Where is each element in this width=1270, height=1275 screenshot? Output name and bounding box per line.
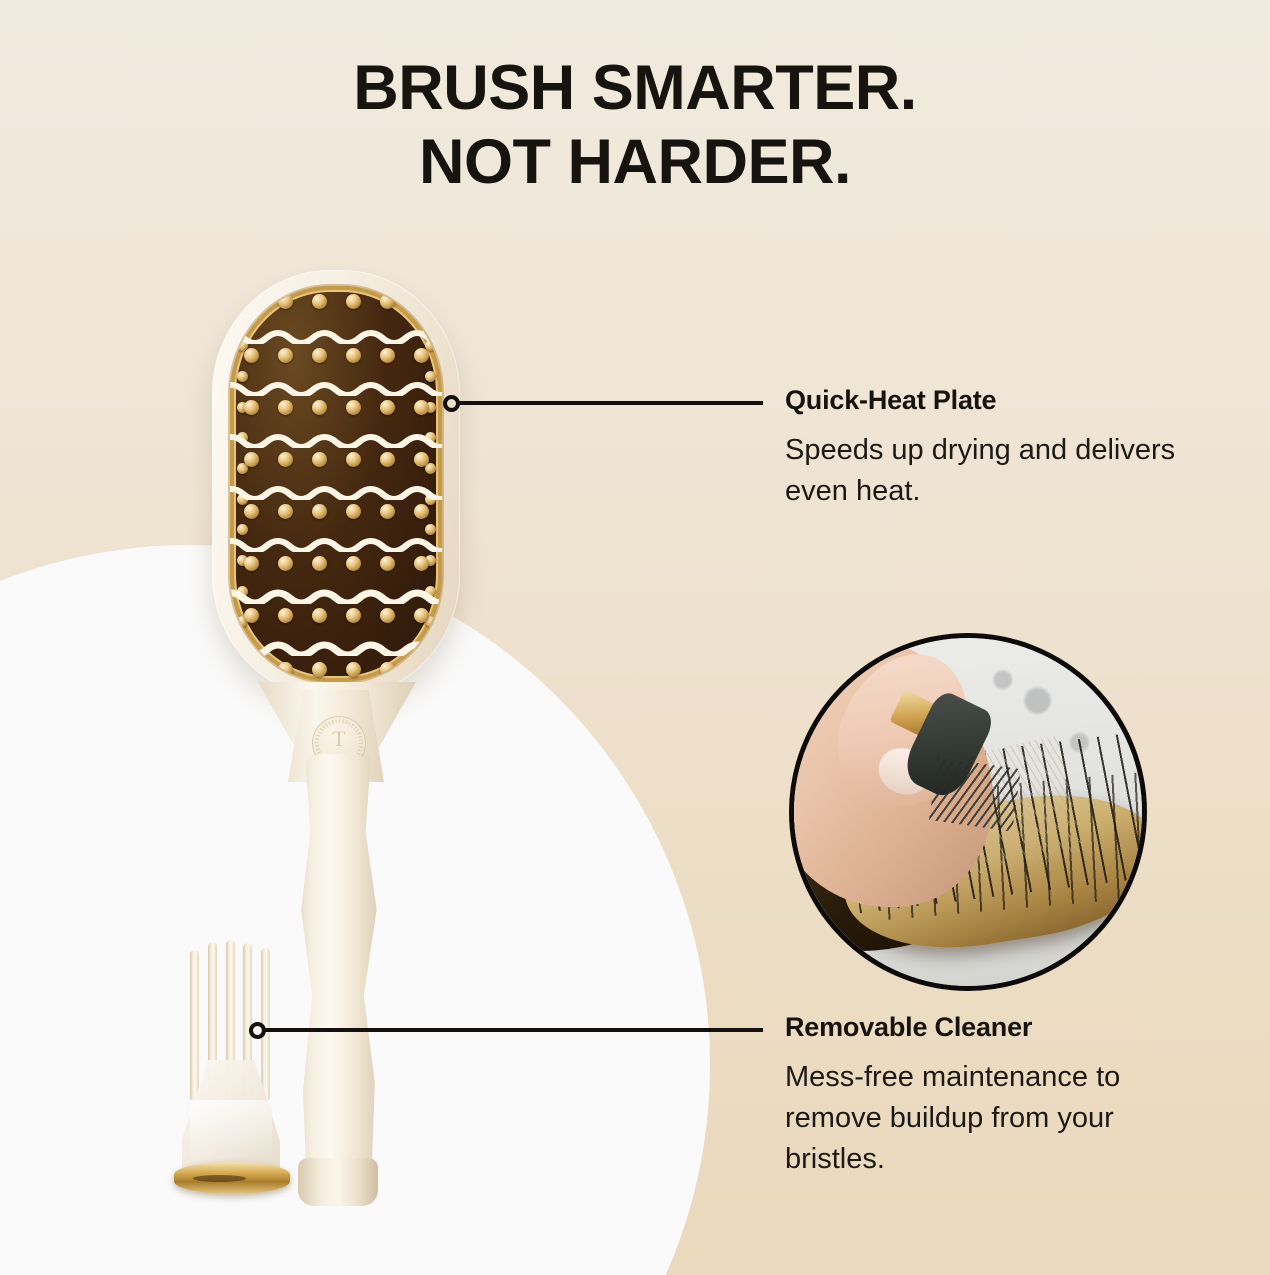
plate-wave-band bbox=[230, 378, 442, 396]
page-title: BRUSH SMARTER. NOT HARDER. bbox=[0, 52, 1270, 199]
callout-title: Quick-Heat Plate bbox=[785, 385, 1205, 416]
plate-pin-row bbox=[234, 604, 438, 626]
brush-handle bbox=[292, 754, 384, 1186]
callout-title: Removable Cleaner bbox=[785, 1012, 1205, 1043]
callout-body: Speeds up drying and delivers even heat. bbox=[785, 430, 1205, 512]
removable-cleaner-image bbox=[168, 940, 298, 1202]
callout-removable-cleaner: Removable Cleaner Mess-free maintenance … bbox=[785, 1012, 1205, 1181]
plate-pin-row bbox=[234, 290, 438, 312]
cleaner-gold-base bbox=[174, 1162, 290, 1194]
leader-line-removable-cleaner bbox=[264, 1028, 763, 1032]
headline-line-2: NOT HARDER. bbox=[0, 126, 1270, 200]
cleaner-demo-photo bbox=[789, 633, 1147, 991]
plate-wave-band bbox=[230, 482, 442, 500]
plate-wave-band bbox=[230, 326, 442, 344]
photo-tool-teeth bbox=[929, 758, 1020, 832]
callout-body: Mess-free maintenance to remove buildup … bbox=[785, 1057, 1205, 1181]
logo-monogram: T bbox=[312, 728, 366, 750]
plate-pin-row bbox=[234, 658, 438, 680]
headline-line-1: BRUSH SMARTER. bbox=[353, 53, 917, 123]
brush-head bbox=[212, 270, 460, 698]
plate-pin-row bbox=[234, 344, 438, 366]
quick-heat-plate-surface bbox=[230, 286, 442, 682]
plate-pin-row bbox=[234, 552, 438, 574]
plate-wave-band bbox=[230, 534, 442, 552]
callout-quick-heat-plate: Quick-Heat Plate Speeds up drying and de… bbox=[785, 385, 1205, 512]
leader-line-quick-heat-plate bbox=[458, 401, 763, 405]
plate-pin-row bbox=[234, 448, 438, 470]
plate-pin-row bbox=[234, 500, 438, 522]
plate-wave-band bbox=[230, 586, 442, 604]
infographic-canvas: BRUSH SMARTER. NOT HARDER. bbox=[0, 0, 1270, 1275]
plate-wave-band bbox=[230, 638, 442, 656]
brush-handle-base bbox=[298, 1158, 378, 1206]
plate-wave-band bbox=[230, 430, 442, 448]
plate-pin-row bbox=[234, 396, 438, 418]
